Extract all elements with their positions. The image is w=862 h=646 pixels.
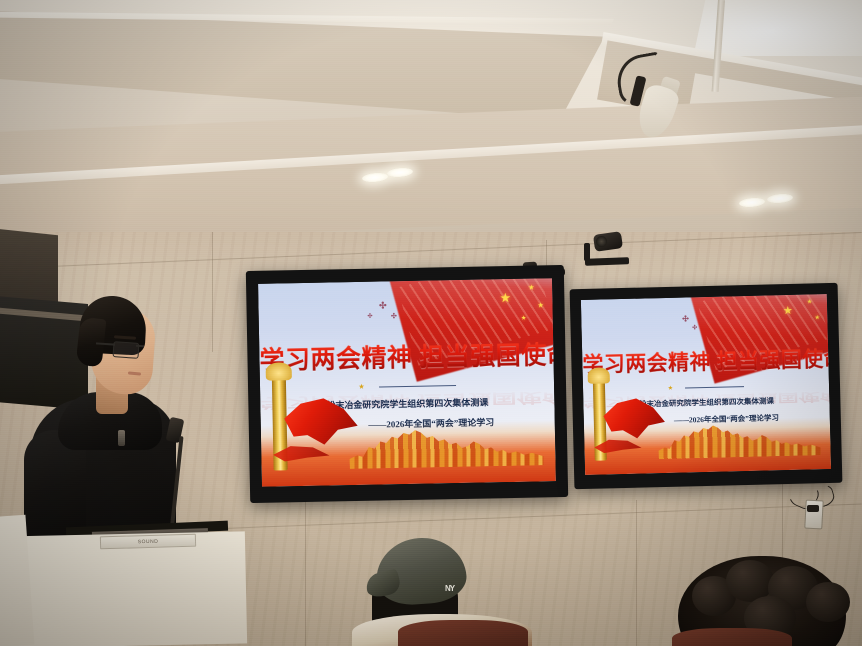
- slide-title-right: 学习两会精神 担当强国使命: [582, 343, 829, 379]
- flag-star-small-3-left: ★: [521, 315, 527, 321]
- hair-curl-4: [806, 582, 850, 622]
- wall-seam-v5: [636, 500, 637, 646]
- wall-seam-v4: [305, 498, 306, 646]
- flag-star-large-left: ★: [499, 291, 511, 304]
- capped-person-collar: [398, 620, 528, 646]
- camera-post: [584, 243, 590, 261]
- cap-logo: NY: [445, 584, 454, 593]
- podium-nameplate-text: SOUND: [138, 538, 159, 545]
- left-display[interactable]: ★ ★ ★ ★ ✣ ✣ ✣ 学习两会精神 担当强国使命 学习两会精神 担当强国使…: [246, 265, 568, 503]
- left-display-screen[interactable]: ★ ★ ★ ★ ✣ ✣ ✣ 学习两会精神 担当强国使命 学习两会精神 担当强国使…: [258, 278, 556, 487]
- slide-huabiao-top-right: [587, 368, 610, 384]
- dove-3-left: ✣: [367, 314, 372, 320]
- flag-star-small-1-left: ★: [528, 285, 534, 292]
- dove-1-right: ✣: [682, 315, 689, 323]
- slide-title-left: 学习两会精神 担当强国使命: [259, 335, 554, 377]
- flag-star-large-right: ★: [783, 305, 793, 316]
- ornament-star-left: ★: [358, 383, 364, 390]
- flag-star-small-1-right: ★: [807, 300, 813, 306]
- slide-content-right: ★ ★ ★ ✣ ✣ 学习两会精神 担当强国使命 学习两会精神 担当强国使命 ★ …: [581, 294, 831, 475]
- dove-2-left: ✣: [391, 314, 397, 321]
- curly-person-shoulder: [672, 628, 792, 646]
- wall-seam-v1: [212, 232, 213, 352]
- hoodie-chest-detail: [118, 430, 125, 446]
- camera-lens-icon: [596, 236, 607, 247]
- flag-star-small-2-left: ★: [537, 303, 543, 310]
- ornament-rule-left: [379, 385, 455, 387]
- lecture-hall-photo: ★ ★ ★ ★ ✣ ✣ ✣ 学习两会精神 担当强国使命 学习两会精神 担当强国使…: [0, 0, 862, 646]
- slide-huabiao-top-left: [265, 362, 292, 381]
- right-display[interactable]: ★ ★ ★ ✣ ✣ 学习两会精神 担当强国使命 学习两会精神 担当强国使命 ★ …: [570, 283, 843, 489]
- right-display-screen[interactable]: ★ ★ ★ ✣ ✣ 学习两会精神 担当强国使命 学习两会精神 担当强国使命 ★ …: [581, 294, 831, 475]
- flag-star-small-2-right: ★: [815, 315, 821, 321]
- slide-content-left: ★ ★ ★ ★ ✣ ✣ ✣ 学习两会精神 担当强国使命 学习两会精神 担当强国使…: [258, 278, 556, 487]
- dove-2-right: ✣: [692, 325, 697, 331]
- podium-nameplate: SOUND: [100, 534, 196, 550]
- wall-outlet-plug: [807, 505, 819, 512]
- ornament-star-right: ★: [668, 385, 674, 391]
- dove-1-left: ✣: [379, 302, 387, 311]
- ornament-rule-right: [685, 386, 744, 388]
